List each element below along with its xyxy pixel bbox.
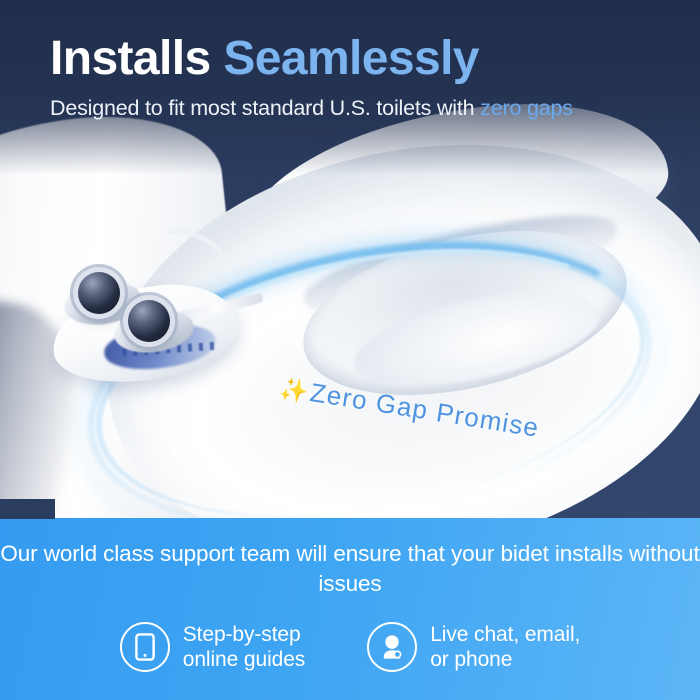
subhead-main: Designed to fit most standard U.S. toile…: [50, 96, 474, 120]
feature-item[interactable]: Live chat, email, or phone: [367, 622, 580, 672]
headline-accent: Seamlessly: [223, 32, 479, 85]
support-agent-icon: [367, 622, 417, 672]
panel-corner-block: [0, 499, 55, 519]
ad-creative: Installs Seamlessly Designed to fit most…: [0, 0, 700, 700]
smartphone-icon: [120, 622, 170, 672]
headline-scrim: [0, 0, 700, 175]
support-headline: Our world class support team will ensure…: [0, 539, 700, 598]
bidet-control-dial-two: [128, 300, 170, 342]
sparkles-icon: ✨: [278, 375, 310, 405]
headline-main: Installs: [50, 32, 211, 85]
feature-label: Step-by-step online guides: [183, 622, 305, 672]
support-panel: Our world class support team will ensure…: [0, 518, 700, 700]
page-title: Installs Seamlessly: [50, 34, 479, 84]
page-subtitle: Designed to fit most standard U.S. toile…: [50, 96, 573, 121]
subhead-accent: zero gaps: [480, 96, 573, 120]
product-photo: Installs Seamlessly Designed to fit most…: [0, 0, 700, 520]
bidet-control-dial-one: [78, 272, 120, 314]
feature-label: Live chat, email, or phone: [430, 622, 580, 672]
support-feature-list: Step-by-step online guides Live chat, em…: [0, 622, 700, 672]
feature-item[interactable]: Step-by-step online guides: [120, 622, 305, 672]
